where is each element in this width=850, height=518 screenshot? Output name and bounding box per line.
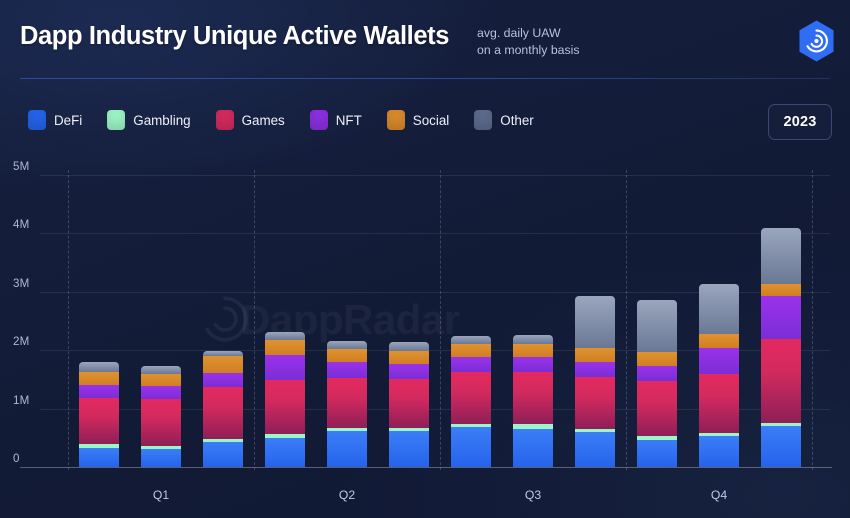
bar-jun[interactable]: [389, 342, 429, 467]
bar-segment-other: [761, 228, 801, 284]
bar-segment-games: [389, 379, 429, 428]
bar-segment-nft: [79, 385, 119, 398]
bar-segment-games: [203, 387, 243, 438]
bar-segment-social: [203, 356, 243, 373]
bar-segment-games: [575, 377, 615, 428]
bar-segment-games: [637, 381, 677, 436]
bar-segment-defi: [513, 429, 553, 467]
bar-segment-other: [513, 335, 553, 344]
bar-segment-defi: [575, 432, 615, 467]
bar-jul[interactable]: [451, 336, 491, 467]
bar-segment-other: [451, 336, 491, 344]
bar-segment-nft: [451, 357, 491, 372]
bar-sep[interactable]: [575, 296, 615, 467]
bar-segment-other: [327, 341, 367, 349]
bar-segment-other: [265, 332, 305, 341]
bar-segment-nft: [699, 348, 739, 374]
bar-segment-social: [699, 334, 739, 347]
bar-segment-social: [637, 352, 677, 365]
bar-segment-social: [327, 349, 367, 362]
bar-segment-nft: [513, 357, 553, 372]
bar-segment-social: [451, 344, 491, 357]
bar-segment-other: [637, 300, 677, 352]
bar-segment-games: [327, 378, 367, 428]
bar-segment-social: [141, 374, 181, 385]
bar-segment-social: [513, 344, 553, 357]
bar-segment-nft: [575, 362, 615, 378]
bar-segment-social: [79, 372, 119, 385]
bar-segment-defi: [637, 440, 677, 467]
bar-segment-nft: [637, 366, 677, 381]
bar-segment-defi: [141, 449, 181, 467]
bar-segment-nft: [389, 364, 429, 379]
bar-dec[interactable]: [761, 228, 801, 467]
bar-segment-social: [389, 351, 429, 364]
bar-series-container: [0, 0, 850, 518]
bar-segment-defi: [389, 431, 429, 467]
bar-segment-other: [389, 342, 429, 350]
bar-segment-other: [575, 296, 615, 348]
bar-segment-other: [141, 366, 181, 375]
bar-segment-nft: [141, 386, 181, 399]
bar-segment-games: [141, 399, 181, 446]
bar-apr[interactable]: [265, 332, 305, 467]
bar-aug[interactable]: [513, 335, 553, 467]
bar-segment-defi: [79, 448, 119, 467]
bar-segment-defi: [699, 436, 739, 467]
bar-nov[interactable]: [699, 284, 739, 467]
bar-segment-games: [79, 398, 119, 444]
bar-segment-nft: [327, 362, 367, 378]
bar-segment-other: [79, 362, 119, 371]
bar-segment-nft: [203, 373, 243, 388]
bar-segment-games: [513, 372, 553, 425]
bar-mar[interactable]: [203, 351, 243, 468]
bar-segment-social: [265, 340, 305, 355]
bar-oct[interactable]: [637, 300, 677, 467]
bar-segment-social: [761, 284, 801, 296]
bar-segment-games: [699, 374, 739, 432]
bar-segment-defi: [327, 431, 367, 467]
bar-segment-defi: [761, 426, 801, 467]
bar-segment-social: [575, 348, 615, 362]
bar-segment-games: [451, 372, 491, 425]
bar-segment-nft: [265, 355, 305, 380]
bar-jan[interactable]: [79, 362, 119, 467]
bar-segment-defi: [265, 438, 305, 467]
bar-may[interactable]: [327, 341, 367, 467]
bar-feb[interactable]: [141, 366, 181, 467]
bar-segment-other: [699, 284, 739, 335]
bar-segment-games: [265, 380, 305, 434]
bar-segment-games: [761, 339, 801, 423]
bar-segment-defi: [451, 427, 491, 467]
bar-segment-defi: [203, 442, 243, 467]
bar-segment-nft: [761, 296, 801, 339]
